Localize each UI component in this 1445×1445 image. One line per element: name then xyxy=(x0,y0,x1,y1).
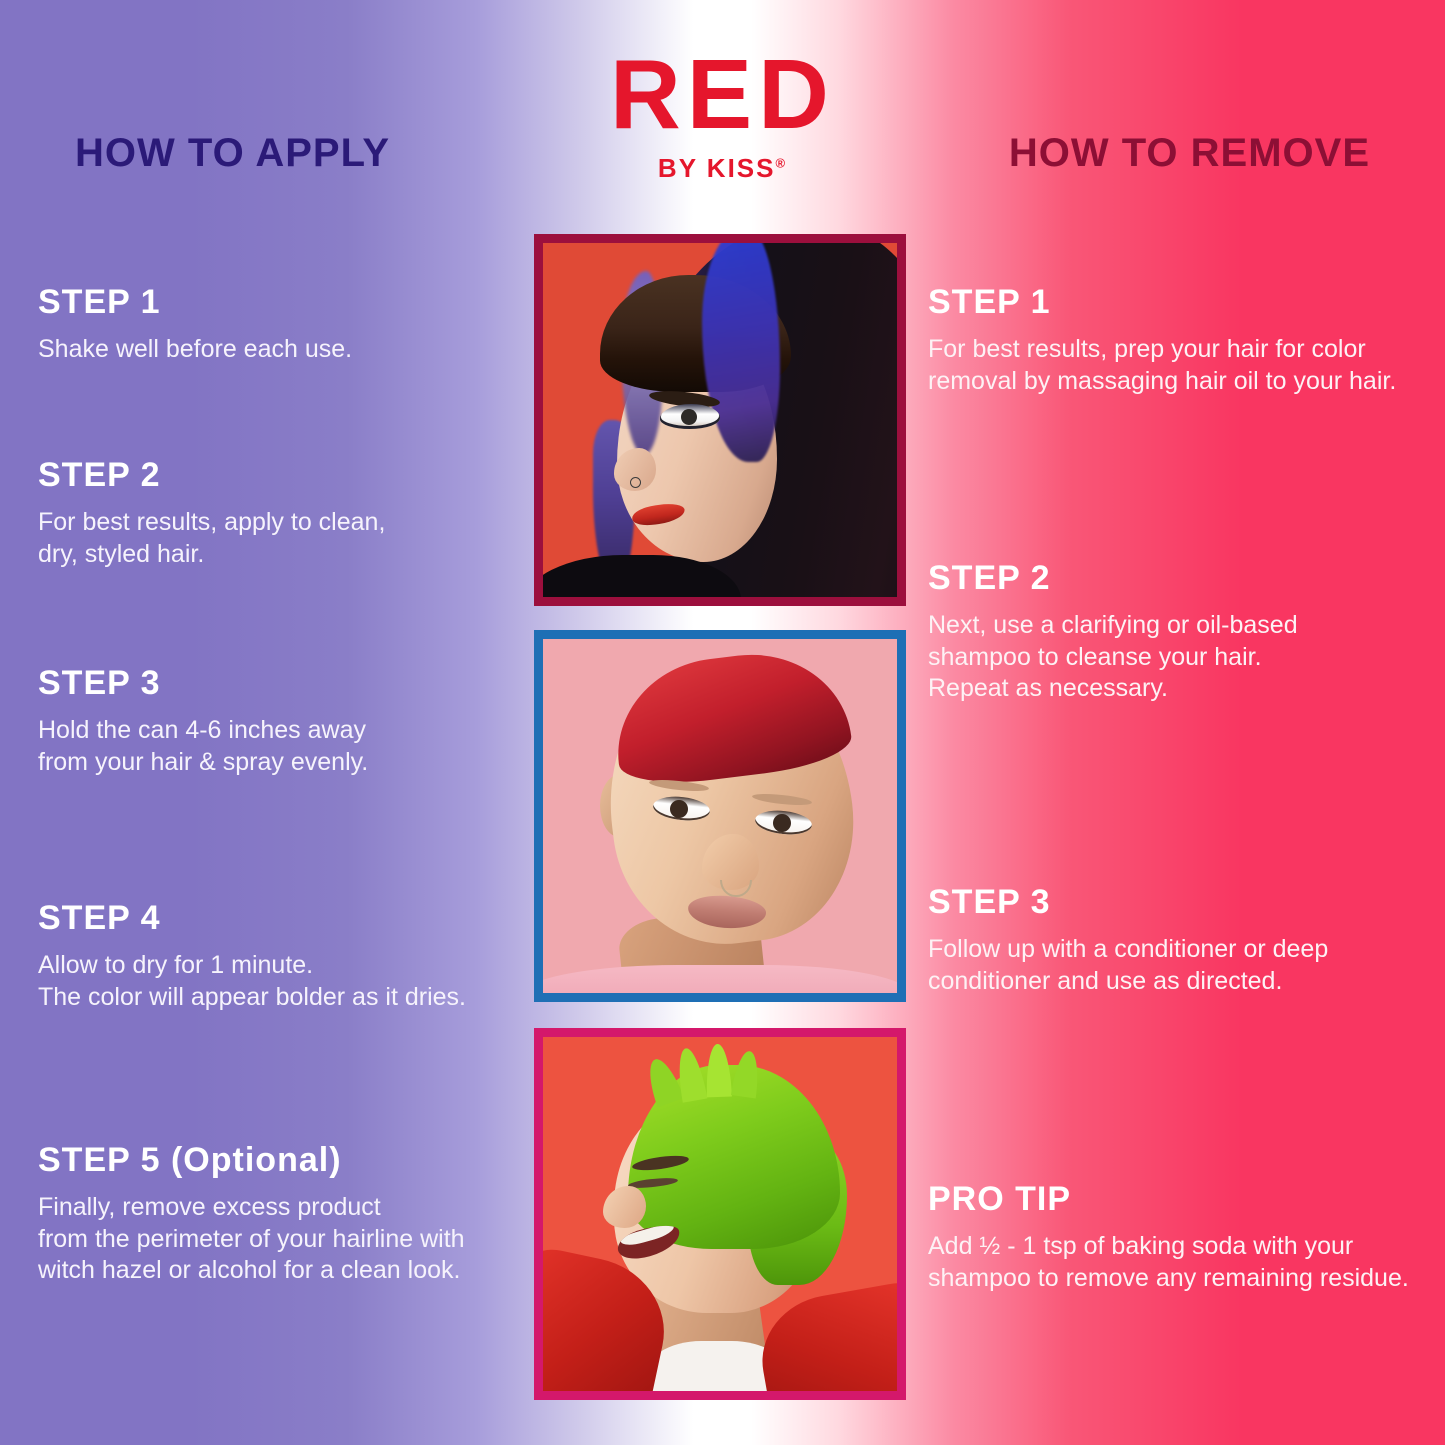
apply-step-4: STEP 4 Allow to dry for 1 minute. The co… xyxy=(38,899,466,1013)
logo-red-wordmark: RED xyxy=(0,48,1445,141)
apply-step-3-title: STEP 3 xyxy=(38,664,368,703)
apply-step-2-body: For best results, apply to clean, dry, s… xyxy=(38,507,385,570)
pro-tip-title: PRO TIP xyxy=(928,1180,1409,1219)
photo-frame-blue-hair xyxy=(534,234,906,606)
photo-blue-hair-model xyxy=(543,243,897,597)
apply-step-4-body: Allow to dry for 1 minute. The color wil… xyxy=(38,950,466,1013)
remove-step-1-body: For best results, prep your hair for col… xyxy=(928,334,1396,397)
apply-step-1: STEP 1 Shake well before each use. xyxy=(38,283,352,366)
pro-tip: PRO TIP Add ½ - 1 tsp of baking soda wit… xyxy=(928,1180,1409,1294)
pupil-right-shape xyxy=(773,814,791,832)
infographic-page: RED BY KISS® HOW TO APPLY HOW TO REMOVE … xyxy=(0,0,1445,1445)
apply-step-3-body: Hold the can 4-6 inches away from your h… xyxy=(38,715,368,778)
remove-step-3-title: STEP 3 xyxy=(928,883,1328,922)
pro-tip-body: Add ½ - 1 tsp of baking soda with your s… xyxy=(928,1231,1409,1294)
remove-step-2: STEP 2 Next, use a clarifying or oil-bas… xyxy=(928,559,1298,705)
apply-step-1-title: STEP 1 xyxy=(38,283,352,322)
apply-step-2-title: STEP 2 xyxy=(38,456,385,495)
remove-step-2-title: STEP 2 xyxy=(928,559,1298,598)
photo-red-buzzcut-model xyxy=(543,639,897,993)
apply-step-5: STEP 5 (Optional) Finally, remove excess… xyxy=(38,1141,465,1287)
registered-trademark-icon: ® xyxy=(775,155,787,170)
remove-step-3-body: Follow up with a conditioner or deep con… xyxy=(928,934,1328,997)
photo-frame-red-buzzcut xyxy=(534,630,906,1002)
apply-step-3: STEP 3 Hold the can 4-6 inches away from… xyxy=(38,664,368,778)
remove-step-1: STEP 1 For best results, prep your hair … xyxy=(928,283,1396,397)
nose-shape xyxy=(603,1186,645,1228)
apply-step-4-title: STEP 4 xyxy=(38,899,466,938)
photo-green-hair-model xyxy=(543,1037,897,1391)
remove-step-3: STEP 3 Follow up with a conditioner or d… xyxy=(928,883,1328,997)
logo-by-kiss-text: BY KISS xyxy=(658,153,776,183)
remove-step-1-title: STEP 1 xyxy=(928,283,1396,322)
how-to-remove-heading: HOW TO REMOVE xyxy=(1009,131,1370,176)
apply-step-2: STEP 2 For best results, apply to clean,… xyxy=(38,456,385,570)
pink-shirt-shape xyxy=(543,965,897,993)
remove-step-2-body: Next, use a clarifying or oil-based sham… xyxy=(928,610,1298,705)
pupil-left-shape xyxy=(670,800,688,818)
hair-spike-3-shape xyxy=(705,1044,732,1098)
apply-step-5-body: Finally, remove excess product from the … xyxy=(38,1192,465,1287)
how-to-apply-heading: HOW TO APPLY xyxy=(75,131,390,176)
apply-step-5-title: STEP 5 (Optional) xyxy=(38,1141,465,1180)
nose-ring-icon xyxy=(630,477,641,488)
apply-step-1-body: Shake well before each use. xyxy=(38,334,352,366)
photo-frame-green-hair xyxy=(534,1028,906,1400)
